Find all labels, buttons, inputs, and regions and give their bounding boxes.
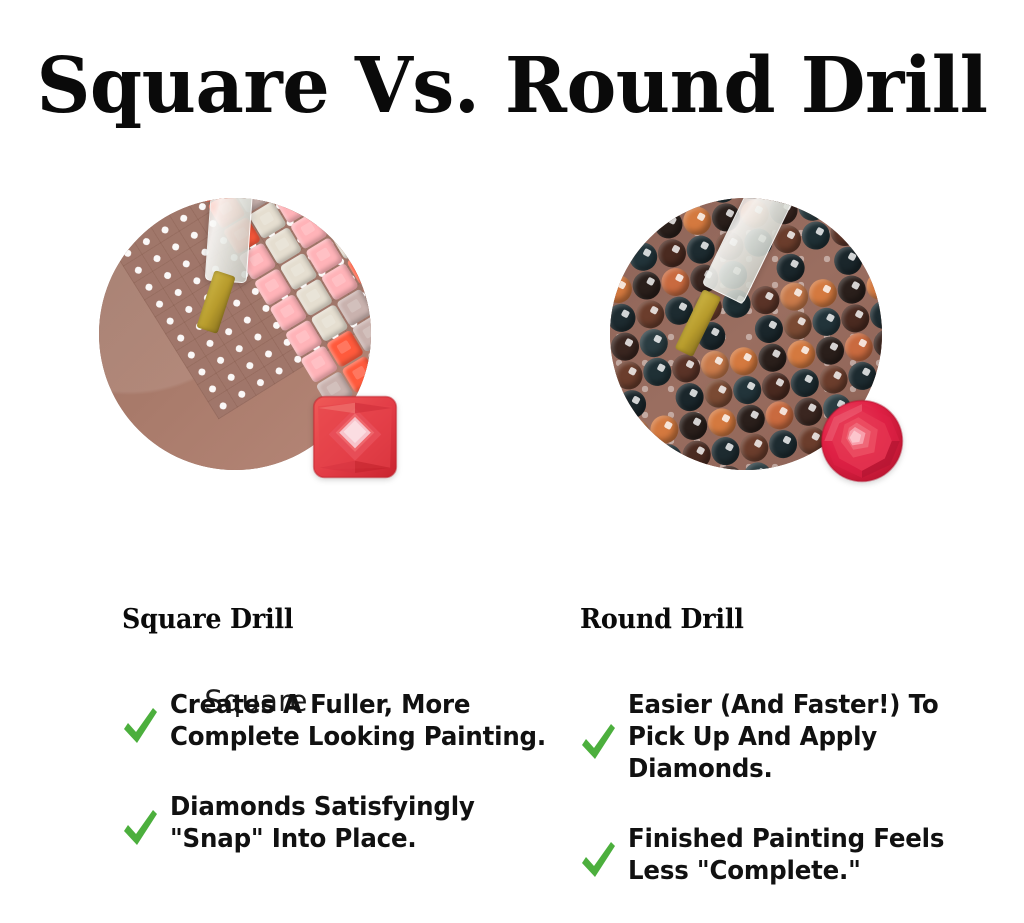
round-bead [610, 302, 637, 333]
round-bead [656, 238, 687, 269]
round-bead [610, 273, 634, 304]
list-item-text: Diamonds Satisfyingly "Snap" Into Place. [170, 792, 475, 856]
round-bead [660, 266, 691, 297]
round-bead [635, 299, 666, 330]
round-bead [621, 198, 652, 215]
round-bead [610, 198, 623, 218]
round-bead [649, 414, 680, 445]
round-bead [868, 299, 882, 330]
list-item: Diamonds Satisfyingly "Snap" Into Place. [122, 792, 582, 856]
round-bead [876, 357, 882, 388]
round-bead [610, 421, 622, 452]
round-bead [703, 378, 734, 409]
list-item-text: Creates A Fuller, More Complete Looking … [170, 690, 546, 754]
check-icon [122, 705, 158, 747]
round-bead [872, 328, 882, 359]
square-drill-heading: Square Drill [122, 604, 554, 635]
round-bead [620, 417, 651, 448]
round-bead [840, 303, 871, 334]
round-bead [764, 400, 795, 431]
round-bead [814, 335, 845, 366]
round-bead [829, 216, 860, 247]
round-bead [610, 331, 641, 362]
round-bead [649, 198, 680, 211]
round-bead [735, 403, 766, 434]
check-icon [580, 721, 616, 763]
round-bead [631, 270, 662, 301]
round-bead [628, 241, 659, 272]
round-bead [732, 374, 763, 405]
round-bead [767, 428, 798, 459]
photo-row: Square [0, 198, 1024, 548]
comparison-section: Square Drill Creates A Fuller, More Comp… [0, 604, 1024, 904]
square-photo-column: Square [0, 198, 512, 548]
round-bead [678, 410, 709, 441]
infographic-root: Square Vs. Round Drill [0, 0, 1024, 923]
list-item: Easier (And Faster!) To Pick Up And Appl… [580, 690, 1024, 786]
round-bead [638, 328, 669, 359]
round-bead [804, 249, 835, 280]
round-bead [789, 367, 820, 398]
round-bead [624, 446, 655, 470]
round-bead [786, 339, 817, 370]
round-bead [753, 313, 784, 344]
round-bead [699, 349, 730, 380]
round-bead [861, 242, 882, 273]
round-bead [757, 342, 788, 373]
round-bead [610, 245, 630, 276]
round-bead [652, 443, 683, 470]
round-bead [836, 274, 867, 305]
round-bead [807, 278, 838, 309]
round-photo-wrap [610, 198, 882, 470]
square-gem-icon [311, 394, 399, 480]
round-bead [713, 464, 744, 470]
round-bead [811, 306, 842, 337]
round-bead [610, 216, 626, 247]
page-title: Square Vs. Round Drill [15, 48, 1008, 125]
round-drill-heading: Round Drill [580, 604, 1012, 635]
round-bead [833, 245, 864, 276]
list-item: Finished Painting Feels Less "Complete." [580, 824, 1024, 888]
round-bead [854, 198, 882, 215]
round-bead [858, 213, 882, 244]
square-drill-column: Square Drill Creates A Fuller, More Comp… [122, 604, 582, 894]
round-bead [800, 220, 831, 251]
round-bead [706, 407, 737, 438]
round-bead [782, 310, 813, 341]
round-bead [728, 346, 759, 377]
round-bead [843, 332, 874, 363]
round-bead [610, 450, 626, 470]
round-gem-icon [818, 398, 906, 484]
round-bead [760, 371, 791, 402]
round-bead [624, 212, 655, 243]
round-drill-column: Round Drill Easier (And Faster!) To Pick… [580, 604, 1024, 923]
round-bead [645, 385, 676, 416]
round-bead [653, 209, 684, 240]
round-bead [797, 198, 828, 222]
round-bead [865, 270, 882, 301]
round-bead [739, 432, 770, 463]
round-bead [613, 360, 644, 391]
round-photo-column: Round [512, 198, 1024, 548]
check-icon [122, 807, 158, 849]
list-item: Creates A Fuller, More Complete Looking … [122, 690, 582, 754]
round-bead [818, 364, 849, 395]
round-bead [826, 198, 857, 219]
list-item-text: Finished Painting Feels Less "Complete." [628, 824, 944, 888]
round-bead [779, 281, 810, 312]
round-bead [674, 382, 705, 413]
round-bead [710, 436, 741, 467]
round-bead [642, 356, 673, 387]
list-item-text: Easier (And Faster!) To Pick Up And Appl… [628, 690, 1024, 786]
round-bead [681, 439, 712, 470]
square-photo-wrap [99, 198, 371, 470]
round-bead [725, 317, 756, 348]
round-bead [750, 285, 781, 316]
check-icon [580, 839, 616, 881]
round-bead [682, 205, 713, 236]
round-bead [771, 457, 802, 470]
round-bead [616, 389, 647, 420]
round-bead [847, 360, 878, 391]
round-bead [670, 353, 701, 384]
round-bead [742, 461, 773, 470]
round-bead [775, 252, 806, 283]
